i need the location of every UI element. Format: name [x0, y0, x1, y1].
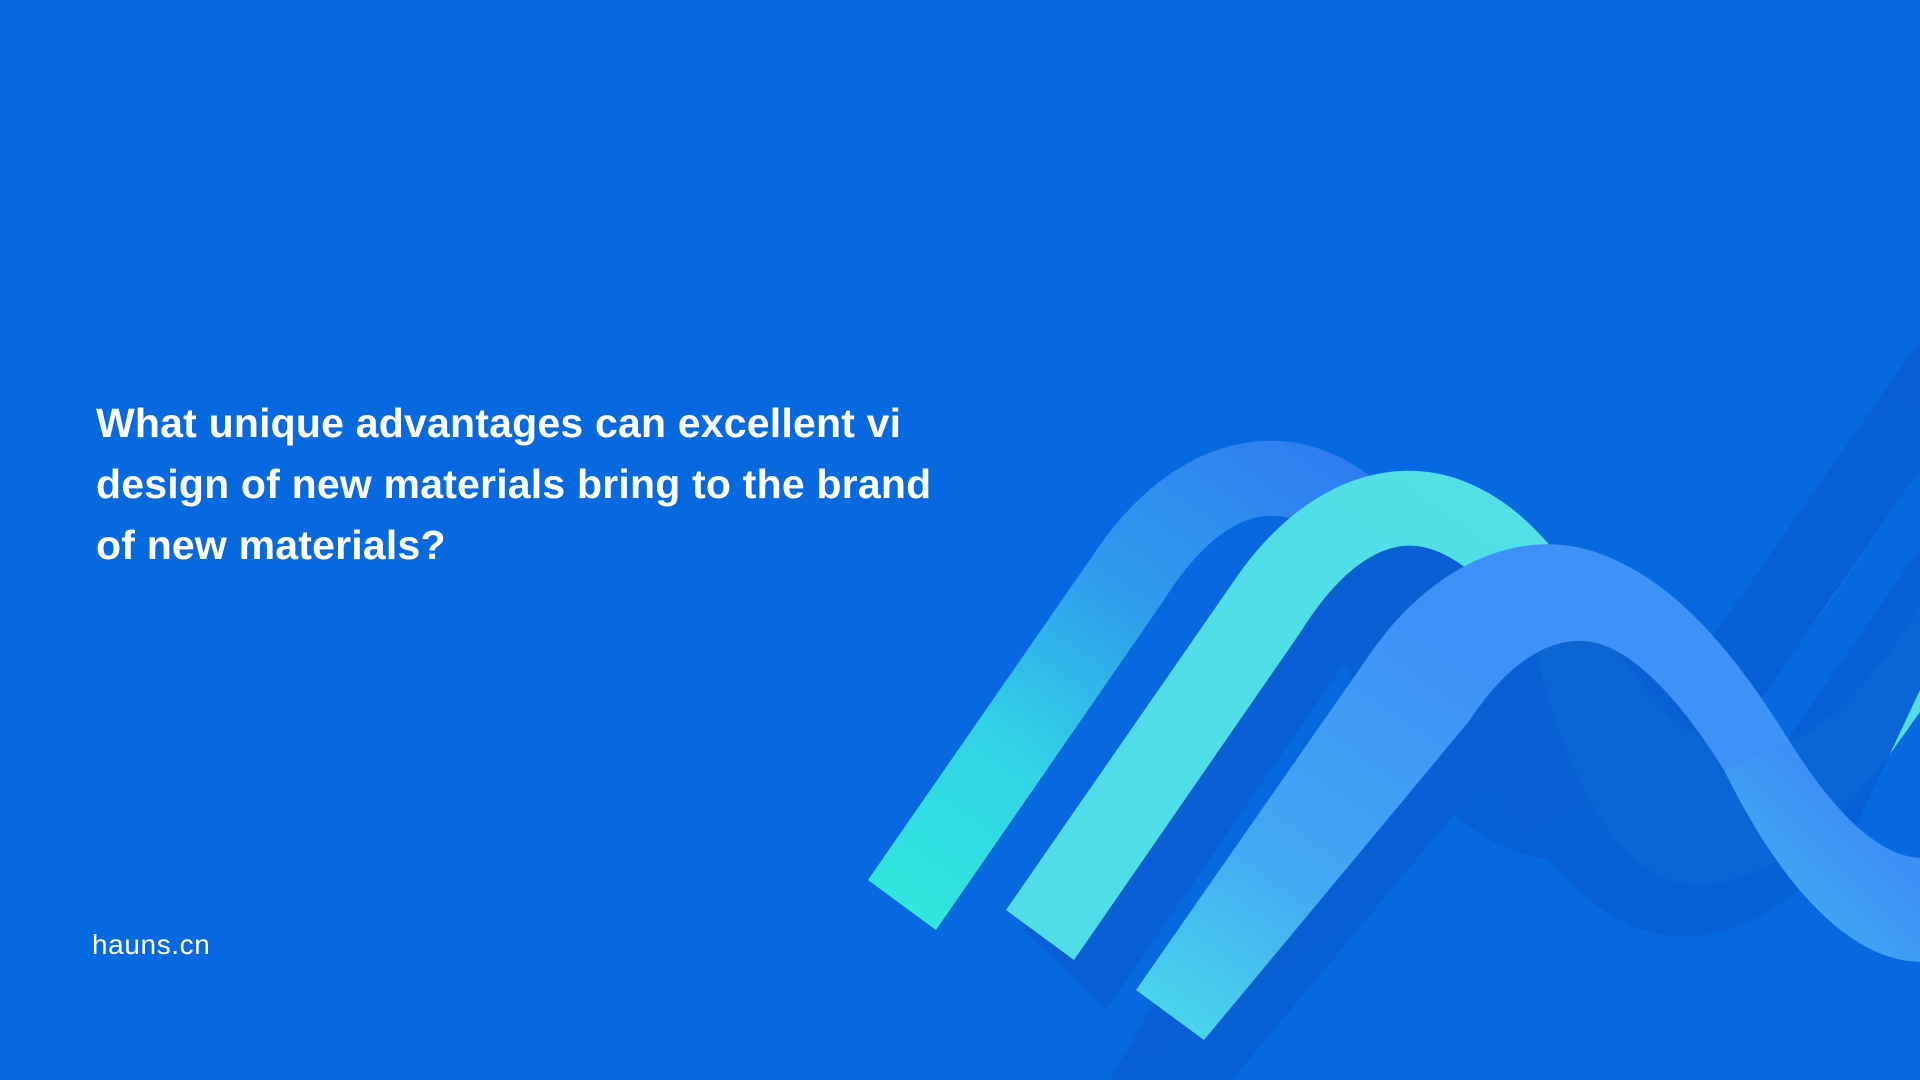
ribbon-back-upper-tail [1524, 330, 1920, 716]
headline-line-2: design of new materials bring to the bra… [96, 454, 1156, 515]
headline-line-1: What unique advantages can excellent vi [96, 393, 1156, 454]
ribbon-front [1136, 544, 1920, 1040]
page-title: What unique advantages can excellent vi … [96, 393, 1156, 576]
slide-canvas: What unique advantages can excellent vi … [0, 0, 1920, 1080]
headline-line-3: of new materials? [96, 515, 1156, 576]
brand-label: hauns.cn [92, 929, 210, 960]
ribbon-shadow-layer [1024, 340, 1920, 1010]
ribbon-front-shadow-layer [1110, 548, 1920, 1080]
brand-footer: hauns.cn [92, 927, 210, 963]
